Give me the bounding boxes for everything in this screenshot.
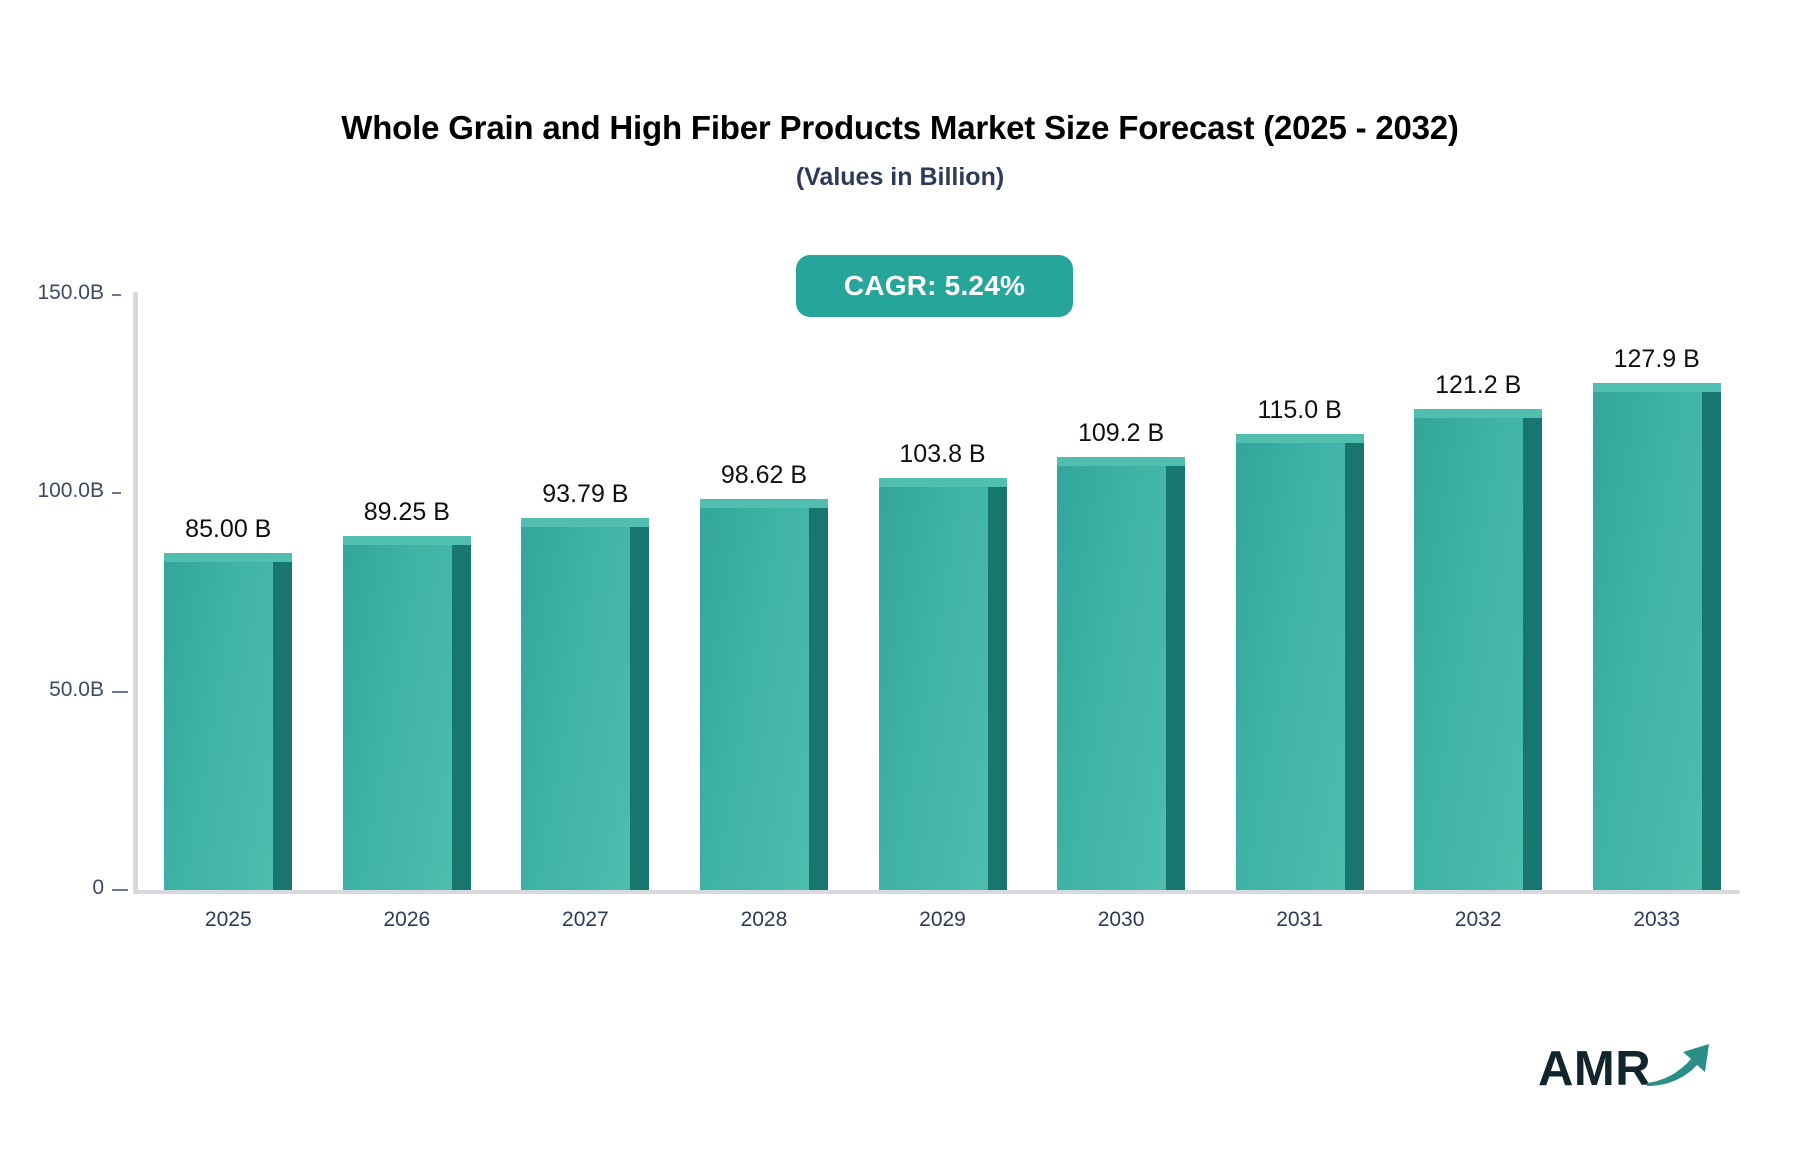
bar-value-label: 98.62 B <box>666 461 862 490</box>
x-axis-tick-label: 2029 <box>873 908 1013 932</box>
bar-side-face <box>1166 466 1185 890</box>
y-axis-tick-mark <box>112 492 121 494</box>
bar-side-face <box>1702 392 1721 890</box>
bar-front-face <box>700 499 809 890</box>
bar-top-face <box>1414 409 1542 418</box>
x-axis-tick-label: 2033 <box>1587 908 1727 932</box>
bar-front-face <box>521 518 630 890</box>
chart-title: Whole Grain and High Fiber Products Mark… <box>0 108 1800 148</box>
x-axis-tick-label: 2025 <box>158 908 298 932</box>
chart-canvas: Whole Grain and High Fiber Products Mark… <box>0 0 1800 1156</box>
bar-front-face <box>1236 434 1345 890</box>
bar: 93.79 B <box>521 518 649 890</box>
bar: 121.2 B <box>1414 409 1542 890</box>
y-axis-tick-label: 0 <box>92 876 104 900</box>
bar: 127.9 B <box>1593 383 1721 890</box>
bar-top-face <box>1236 434 1364 443</box>
y-axis-tick-label: 150.0B <box>37 281 104 305</box>
bar-value-label: 89.25 B <box>309 498 505 527</box>
x-axis-tick-label: 2032 <box>1408 908 1548 932</box>
bar-series: 85.00 B89.25 B93.79 B98.62 B103.8 B109.2… <box>133 292 1740 892</box>
y-axis-tick-mark <box>112 691 128 693</box>
growth-arrow-icon <box>1645 1035 1713 1092</box>
y-axis-tick-mark <box>112 889 128 891</box>
bar: 109.2 B <box>1057 457 1185 890</box>
bar-front-face <box>343 536 452 890</box>
bar-value-label: 121.2 B <box>1380 371 1576 400</box>
bar: 85.00 B <box>164 553 292 890</box>
bar-side-face <box>988 487 1007 890</box>
x-axis-tick-label: 2026 <box>337 908 477 932</box>
bar-side-face <box>809 508 828 890</box>
bar: 115.0 B <box>1236 434 1364 890</box>
bar-top-face <box>879 478 1007 487</box>
bar-top-face <box>1057 457 1185 466</box>
x-axis-tick-label: 2028 <box>694 908 834 932</box>
bar: 103.8 B <box>879 478 1007 890</box>
bar-top-face <box>164 553 292 562</box>
amr-logo-text: AMR <box>1538 1045 1651 1094</box>
bar: 89.25 B <box>343 536 471 890</box>
x-axis-tick-label: 2031 <box>1230 908 1370 932</box>
y-axis-tick-mark <box>112 294 121 296</box>
bar-side-face <box>1523 418 1542 890</box>
bar-top-face <box>1593 383 1721 392</box>
x-axis-tick-label: 2027 <box>515 908 655 932</box>
bar-front-face <box>879 478 988 890</box>
bar-top-face <box>521 518 649 527</box>
x-axis-tick-label: 2030 <box>1051 908 1191 932</box>
bar-value-label: 103.8 B <box>845 440 1041 469</box>
bar: 98.62 B <box>700 499 828 890</box>
bar-top-face <box>700 499 828 508</box>
bar-value-label: 127.9 B <box>1559 345 1755 374</box>
bar-front-face <box>1593 383 1702 890</box>
amr-logo: AMR <box>1538 1035 1713 1094</box>
bar-side-face <box>1345 443 1364 890</box>
bar-value-label: 115.0 B <box>1202 396 1398 425</box>
bar-value-label: 85.00 B <box>130 515 326 544</box>
bar-front-face <box>1057 457 1166 890</box>
bar-front-face <box>164 553 273 890</box>
bar-value-label: 109.2 B <box>1023 419 1219 448</box>
bar-front-face <box>1414 409 1523 890</box>
bar-top-face <box>343 536 471 545</box>
bar-side-face <box>630 527 649 890</box>
bar-value-label: 93.79 B <box>487 480 683 509</box>
bar-side-face <box>273 562 292 890</box>
bar-side-face <box>452 545 471 890</box>
y-axis-tick-label: 50.0B <box>49 678 104 702</box>
y-axis-tick-label: 100.0B <box>37 479 104 503</box>
chart-header: Whole Grain and High Fiber Products Mark… <box>0 108 1800 192</box>
chart-subtitle: (Values in Billion) <box>0 162 1800 192</box>
